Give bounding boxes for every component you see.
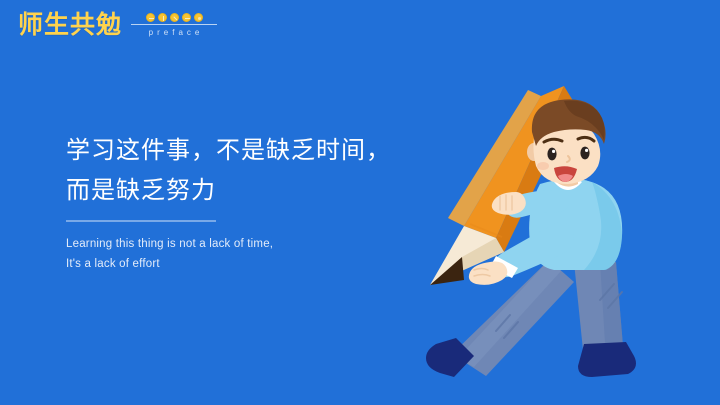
headline-line-2: 而是缺乏努力 (66, 171, 416, 211)
preface-divider (131, 24, 217, 25)
subtitle-line-1: Learning this thing is not a lack of tim… (66, 234, 416, 254)
slide-root: 师生共勉 preface 学习这件事，不是缺乏时间， 而是缺乏努力 Learni… (0, 0, 720, 405)
header-dot-5-icon (194, 13, 203, 22)
front-shoe (578, 342, 636, 377)
brand-title: 师生共勉 (18, 10, 122, 40)
header-dot-2-icon (158, 13, 167, 22)
preface-label: preface (145, 28, 204, 38)
copy-block: 学习这件事，不是缺乏时间， 而是缺乏努力 Learning this thing… (66, 131, 416, 274)
front-leg (574, 262, 636, 377)
header-dot-4-icon (182, 13, 191, 22)
illustration-boy-carrying-giant-pencil (378, 86, 720, 398)
header: 师生共勉 preface (18, 10, 217, 40)
header-dot-1-icon (146, 13, 155, 22)
headline-line-1: 学习这件事，不是缺乏时间， (66, 131, 416, 171)
preface-block: preface (131, 13, 217, 40)
cheek (537, 162, 549, 170)
eye-left (547, 148, 556, 161)
copy-divider (66, 220, 216, 222)
subtitle-line-2: It's a lack of effort (66, 254, 416, 274)
header-dot-3-icon (170, 13, 179, 22)
eye-right (580, 147, 589, 160)
header-dot-row (146, 13, 203, 22)
